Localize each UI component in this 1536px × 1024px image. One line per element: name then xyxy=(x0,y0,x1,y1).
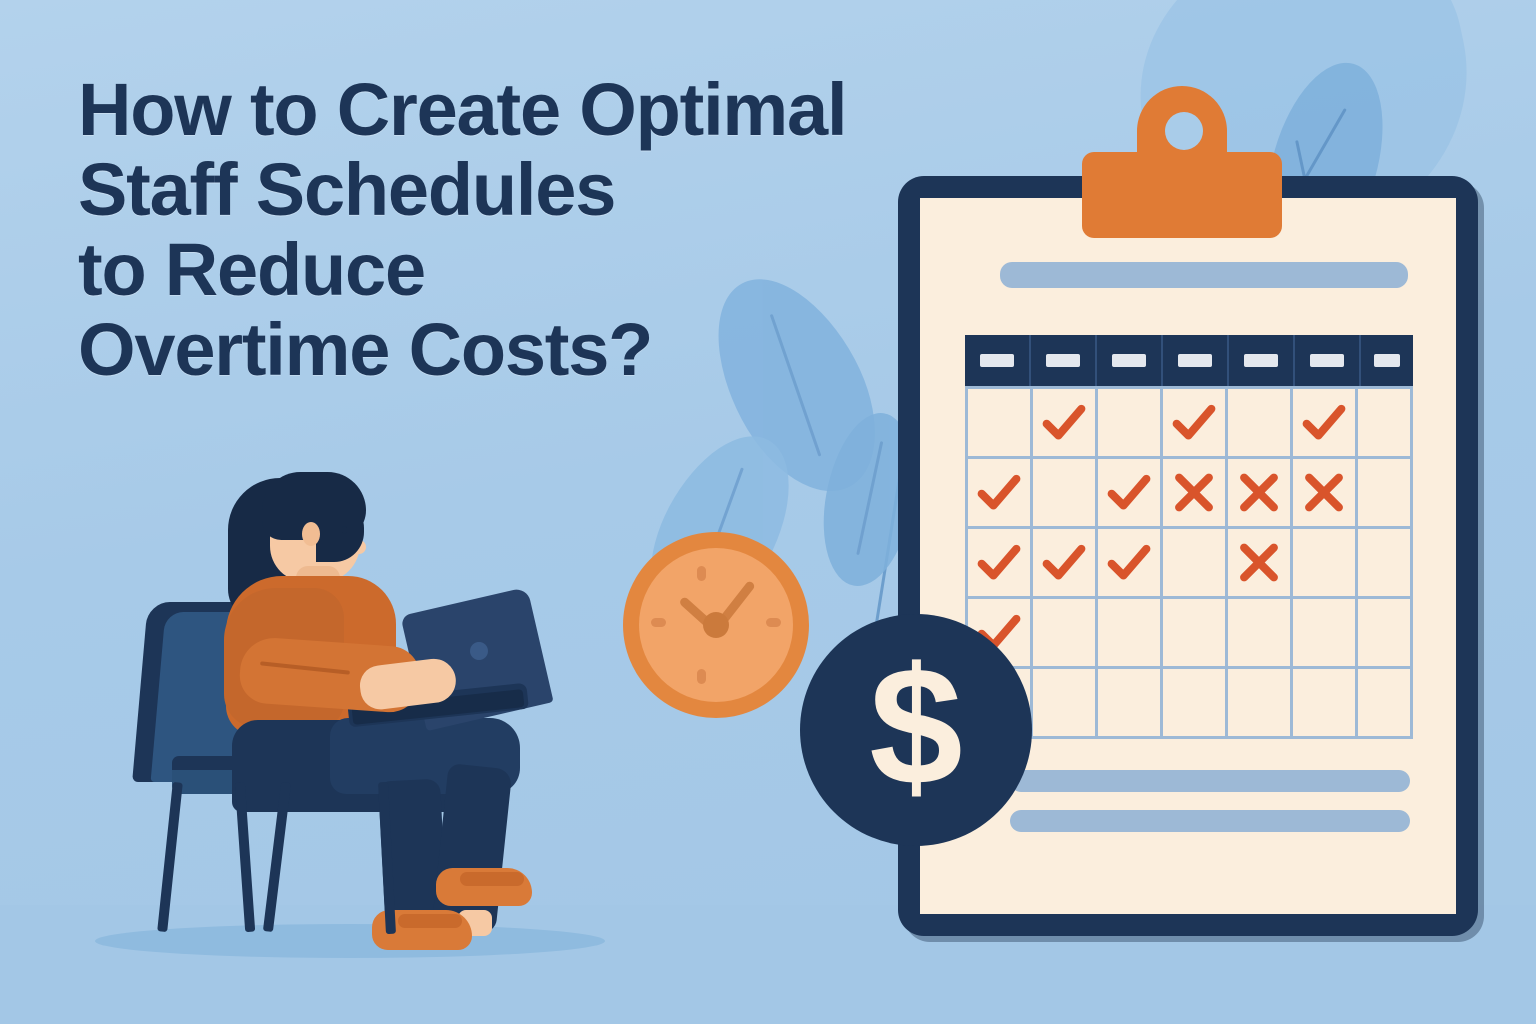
calendar-cell[interactable] xyxy=(1358,669,1410,736)
calendar-cell[interactable] xyxy=(968,459,1030,526)
cross-icon xyxy=(1228,459,1290,526)
calendar-cell[interactable] xyxy=(1293,599,1355,666)
calendar-header-cell xyxy=(1097,335,1163,386)
calendar-header-cell xyxy=(1163,335,1229,386)
paper-title-bar xyxy=(1000,262,1408,288)
calendar-cell[interactable] xyxy=(1293,529,1355,596)
clip-hole xyxy=(1165,112,1203,150)
calendar-cell[interactable] xyxy=(968,529,1030,596)
cross-icon xyxy=(1228,529,1290,596)
calendar-header-cell xyxy=(1031,335,1097,386)
shoe-front-highlight xyxy=(460,872,524,886)
chair-leg-1 xyxy=(157,782,183,932)
calendar-cell[interactable] xyxy=(1358,599,1410,666)
calendar-cell[interactable] xyxy=(1033,529,1095,596)
header-chip xyxy=(1310,354,1344,367)
title-line-2: Staff Schedules xyxy=(78,150,818,230)
calendar-cell[interactable] xyxy=(1228,599,1290,666)
calendar-cell[interactable] xyxy=(1358,459,1410,526)
calendar-cell[interactable] xyxy=(1358,389,1410,456)
calendar-cell[interactable] xyxy=(1098,599,1160,666)
clock-tick-12 xyxy=(697,566,706,581)
check-icon xyxy=(968,459,1030,526)
check-icon xyxy=(1098,529,1160,596)
calendar-cell[interactable] xyxy=(1163,529,1225,596)
calendar-cell[interactable] xyxy=(1163,389,1225,456)
calendar-cell[interactable] xyxy=(1293,389,1355,456)
calendar-cell[interactable] xyxy=(1228,459,1290,526)
calendar-cell[interactable] xyxy=(1228,529,1290,596)
header-chip xyxy=(980,354,1014,367)
header-chip xyxy=(1374,354,1400,367)
calendar-cell[interactable] xyxy=(1293,669,1355,736)
check-icon xyxy=(1163,389,1225,456)
clip-body xyxy=(1082,152,1282,238)
schedule-calendar xyxy=(965,335,1413,739)
clock-tick-3 xyxy=(766,618,781,627)
calendar-header-cell xyxy=(965,335,1031,386)
title-line-1: How to Create Optimal xyxy=(78,70,818,150)
check-icon xyxy=(1293,389,1355,456)
calendar-cell[interactable] xyxy=(1293,459,1355,526)
header-chip xyxy=(1178,354,1212,367)
eye xyxy=(342,526,347,534)
check-icon xyxy=(1033,529,1095,596)
check-icon xyxy=(968,529,1030,596)
header-chip xyxy=(1112,354,1146,367)
dollar-coin-icon: $ xyxy=(800,614,1032,846)
check-icon xyxy=(1098,459,1160,526)
clock-center-pin xyxy=(703,612,729,638)
calendar-cell[interactable] xyxy=(1098,529,1160,596)
laptop-logo-icon xyxy=(470,642,488,660)
ear xyxy=(302,522,320,546)
dollar-sign-icon: $ xyxy=(869,642,962,810)
wall-clock-icon xyxy=(623,532,809,718)
title-line-3: to Reduce xyxy=(78,230,818,310)
calendar-header-row xyxy=(965,335,1413,386)
calendar-cell[interactable] xyxy=(1163,459,1225,526)
calendar-header-cell xyxy=(1361,335,1413,386)
calendar-body xyxy=(965,386,1413,739)
calendar-cell[interactable] xyxy=(1163,599,1225,666)
calendar-cell[interactable] xyxy=(1033,459,1095,526)
calendar-header-cell xyxy=(1229,335,1295,386)
calendar-cell[interactable] xyxy=(1228,389,1290,456)
calendar-cell[interactable] xyxy=(1098,669,1160,736)
calendar-cell[interactable] xyxy=(1033,599,1095,666)
check-icon xyxy=(1033,389,1095,456)
paper-footer-bar-1 xyxy=(1010,770,1410,792)
shoe-back-highlight xyxy=(398,914,462,928)
paper-footer-bar-2 xyxy=(1010,810,1410,832)
calendar-cell[interactable] xyxy=(968,389,1030,456)
person-illustration xyxy=(120,470,600,960)
calendar-cell[interactable] xyxy=(1358,529,1410,596)
header-chip xyxy=(1244,354,1278,367)
page-title: How to Create Optimal Staff Schedules to… xyxy=(78,70,818,390)
clock-tick-9 xyxy=(651,618,666,627)
calendar-header-cell xyxy=(1295,335,1361,386)
calendar-cell[interactable] xyxy=(1228,669,1290,736)
cross-icon xyxy=(1163,459,1225,526)
illustration-canvas: How to Create Optimal Staff Schedules to… xyxy=(0,0,1536,1024)
header-chip xyxy=(1046,354,1080,367)
calendar-cell[interactable] xyxy=(1163,669,1225,736)
calendar-cell[interactable] xyxy=(1098,459,1160,526)
calendar-cell[interactable] xyxy=(1098,389,1160,456)
clock-tick-6 xyxy=(697,669,706,684)
calendar-cell[interactable] xyxy=(1033,669,1095,736)
cross-icon xyxy=(1293,459,1355,526)
title-line-4: Overtime Costs? xyxy=(78,310,818,390)
calendar-cell[interactable] xyxy=(1033,389,1095,456)
